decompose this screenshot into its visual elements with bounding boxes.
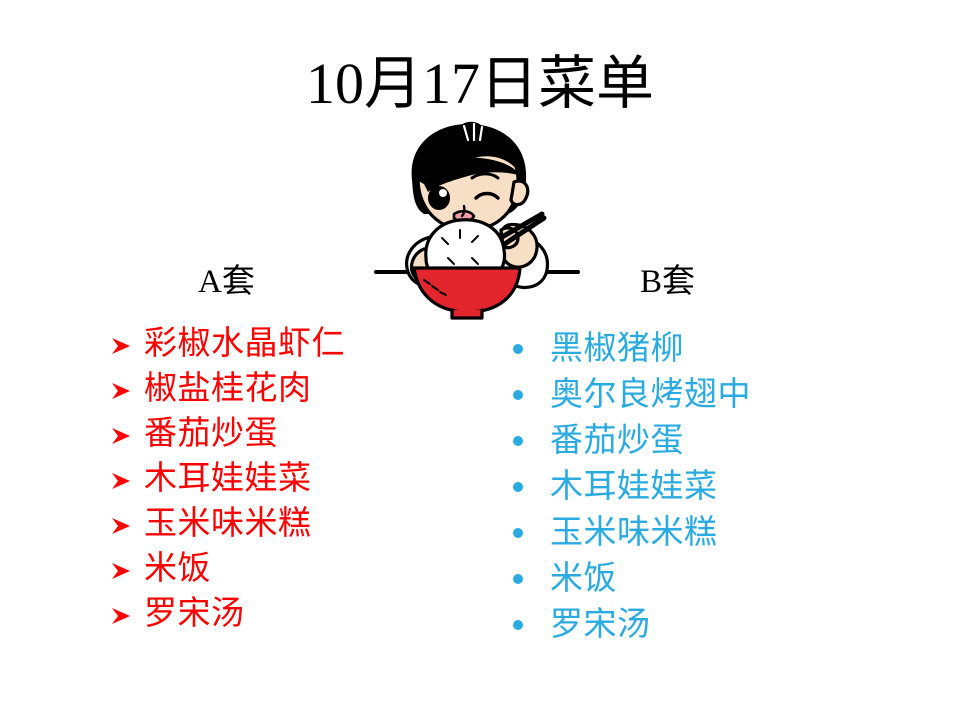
menu-slide: 10月17日菜单 [0, 0, 960, 720]
dot-bullet-icon [505, 418, 550, 464]
list-item: 米饭 [110, 547, 490, 592]
list-item: 罗宋汤 [110, 592, 490, 637]
arrow-bullet-icon [110, 504, 144, 549]
dish-name: 椒盐桂花肉 [144, 367, 312, 412]
arrow-bullet-icon [110, 594, 144, 639]
list-item: 番茄炒蛋 [505, 418, 885, 464]
dish-name: 奥尔良烤翅中 [550, 372, 751, 418]
list-item: 玉米味米糕 [110, 502, 490, 547]
dish-name: 木耳娃娃菜 [144, 457, 312, 502]
column-header-set-a: A套 [198, 262, 255, 302]
list-item: 黑椒猪柳 [505, 326, 885, 372]
dot-bullet-icon [505, 326, 550, 372]
dish-name: 米饭 [550, 556, 617, 602]
dot-bullet-icon [505, 556, 550, 602]
dish-name: 黑椒猪柳 [550, 326, 684, 372]
dish-name: 罗宋汤 [144, 592, 245, 637]
list-item: 罗宋汤 [505, 602, 885, 648]
dish-name: 番茄炒蛋 [550, 418, 684, 464]
arrow-bullet-icon [110, 324, 144, 369]
dish-name: 米饭 [144, 547, 211, 592]
dot-bullet-icon [505, 602, 550, 648]
menu-list-set-b: 黑椒猪柳 奥尔良烤翅中 番茄炒蛋 木耳娃娃菜 玉米味米糕 米饭 罗宋汤 [505, 326, 885, 648]
list-item: 木耳娃娃菜 [505, 464, 885, 510]
list-item: 玉米味米糕 [505, 510, 885, 556]
menu-list-set-a: 彩椒水晶虾仁 椒盐桂花肉 番茄炒蛋 木耳娃娃菜 [110, 322, 490, 637]
dish-name: 玉米味米糕 [144, 502, 312, 547]
page-title: 10月17日菜单 [0, 50, 960, 118]
dish-name: 罗宋汤 [550, 602, 651, 648]
column-header-set-b: B套 [640, 262, 695, 302]
list-item: 彩椒水晶虾仁 [110, 322, 490, 367]
list-item: 椒盐桂花肉 [110, 367, 490, 412]
arrow-bullet-icon [110, 459, 144, 504]
list-item: 木耳娃娃菜 [110, 457, 490, 502]
arrow-bullet-icon [110, 549, 144, 594]
boy-eating-rice-illustration [368, 118, 596, 323]
list-item: 番茄炒蛋 [110, 412, 490, 457]
dish-name: 木耳娃娃菜 [550, 464, 718, 510]
dot-bullet-icon [505, 372, 550, 418]
dot-bullet-icon [505, 510, 550, 556]
arrow-bullet-icon [110, 369, 144, 414]
arrow-bullet-icon [110, 414, 144, 459]
dot-bullet-icon [505, 464, 550, 510]
list-item: 奥尔良烤翅中 [505, 372, 885, 418]
dish-name: 彩椒水晶虾仁 [144, 322, 345, 367]
dish-name: 玉米味米糕 [550, 510, 718, 556]
dish-name: 番茄炒蛋 [144, 412, 278, 457]
list-item: 米饭 [505, 556, 885, 602]
